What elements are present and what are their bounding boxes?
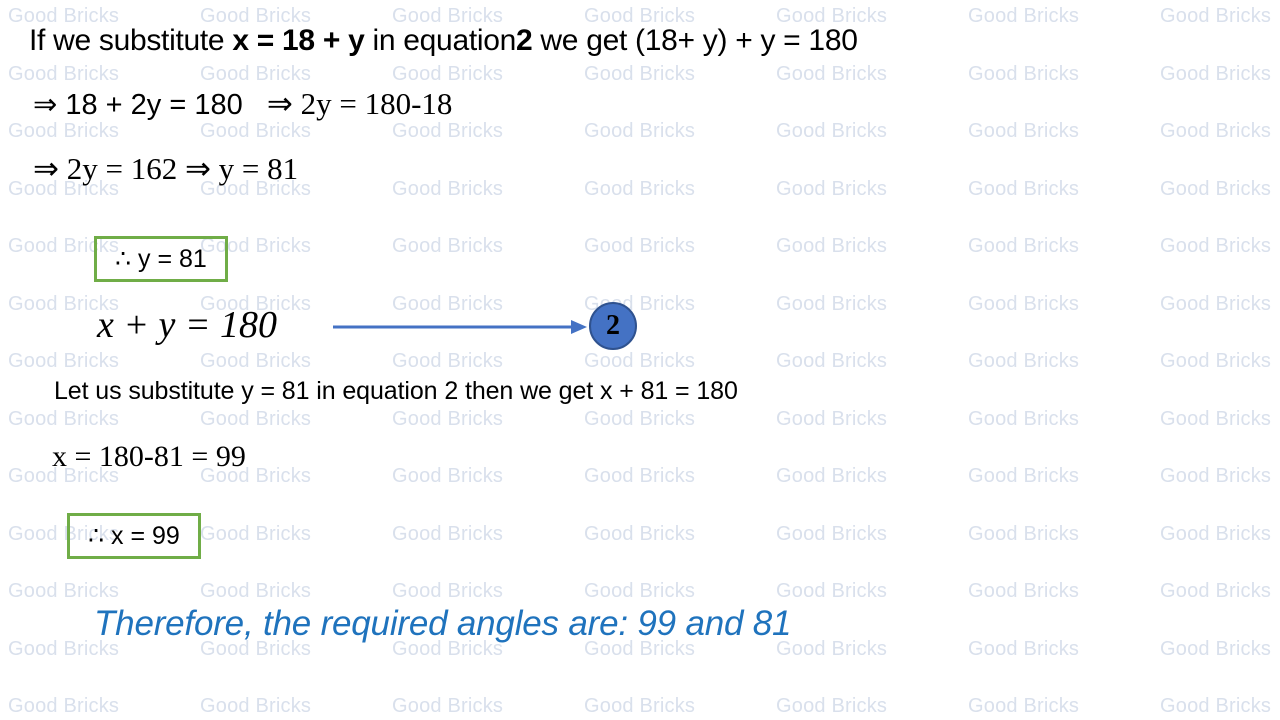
step1-sans-part: ⇒ 18 + 2y = 180 xyxy=(33,89,243,121)
step1-gap xyxy=(243,89,267,121)
substitute-suffix: we get (18+ y) + y = 180 xyxy=(532,24,857,57)
line-x-calculation: x = 180-81 = 99 xyxy=(52,440,246,473)
equation-number-badge: 2 xyxy=(589,302,637,350)
arrow-right-icon xyxy=(333,316,587,343)
slide-canvas: Good BricksGood BricksGood BricksGood Br… xyxy=(0,0,1280,720)
equation-number-badge-label: 2 xyxy=(606,310,620,342)
substitute-bold-expression: x = 18 + y xyxy=(232,24,364,57)
slide-content: If we substitute x = 18 + y in equation2… xyxy=(0,0,1280,720)
line-let-us-substitute: Let us substitute y = 81 in equation 2 t… xyxy=(54,378,738,406)
substitute-middle: in equation xyxy=(364,24,516,57)
step1-serif-part: ⇒ 2y = 180-18 xyxy=(267,86,453,121)
answer-box-x-label: ∴ x = 99 xyxy=(88,521,180,551)
answer-box-y: ∴ y = 81 xyxy=(94,236,228,282)
answer-box-y-label: ∴ y = 81 xyxy=(115,244,207,274)
substitute-prefix: If we substitute xyxy=(29,24,232,57)
line-conclusion: Therefore, the required angles are: 99 a… xyxy=(94,605,791,644)
line-substitute-intro: If we substitute x = 18 + y in equation2… xyxy=(29,24,858,57)
answer-box-x: ∴ x = 99 xyxy=(67,513,201,559)
substitute-equation-number: 2 xyxy=(516,24,532,57)
equation-x-plus-y: x + y = 180 xyxy=(97,303,277,347)
line-step-1: ⇒ 18 + 2y = 180 ⇒ 2y = 180-18 xyxy=(33,87,452,122)
line-step-2: ⇒ 2y = 162 ⇒ y = 81 xyxy=(33,152,298,186)
